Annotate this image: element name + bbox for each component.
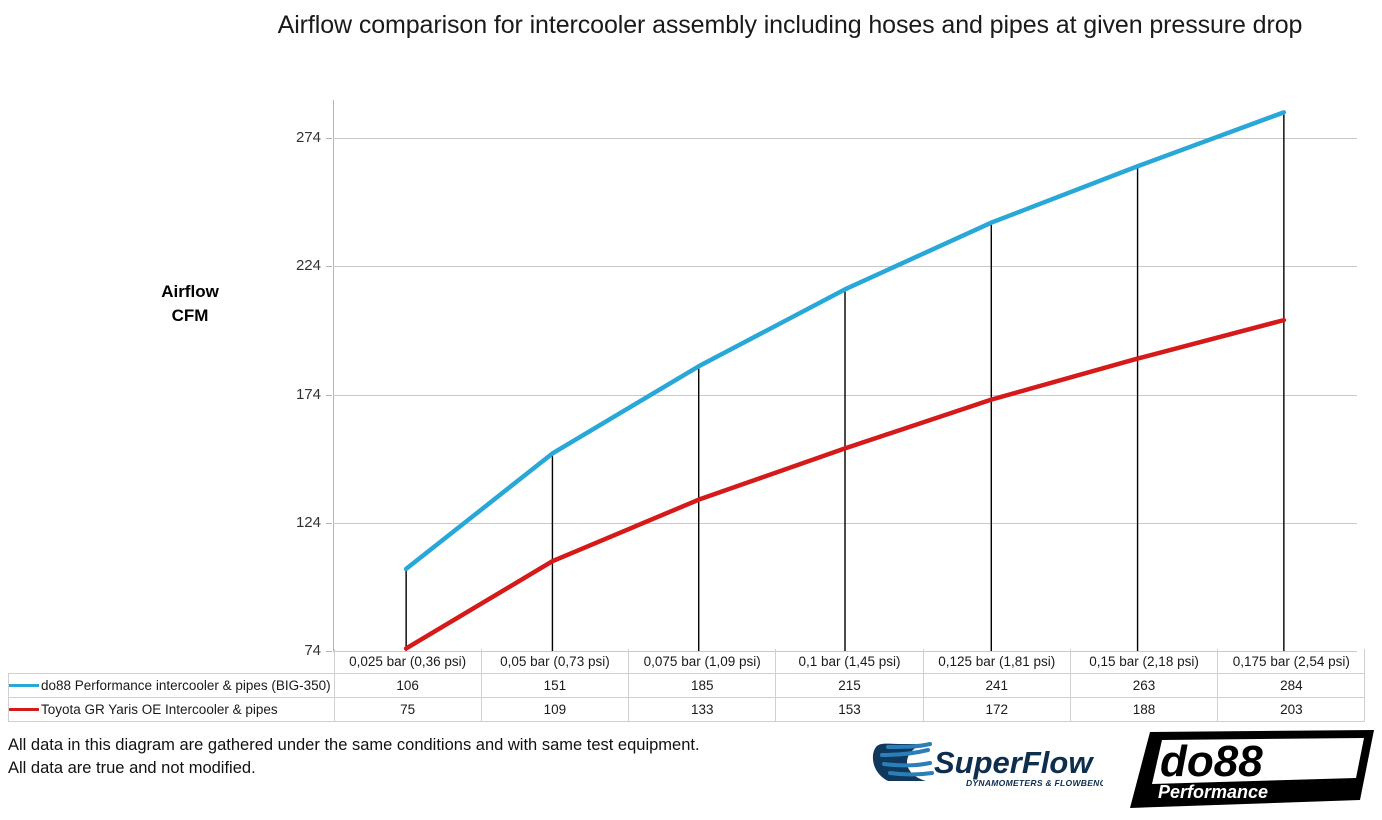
do88-wordmark: do88 [1160,737,1263,786]
series-line [406,112,1284,569]
x-axis-category-label: 0,125 bar (1,81 psi) [923,649,1070,674]
superflow-wordmark: SuperFlow [934,745,1094,780]
superflow-logo: SuperFlow DYNAMOMETERS & FLOWBENCHES [868,733,1103,795]
legend-label: do88 Performance intercooler & pipes (BI… [41,678,331,693]
series-line [406,320,1284,648]
y-tick-mark [326,266,332,267]
y-tick-label: 124 [261,514,321,531]
data-value-cell: 109 [481,698,628,722]
legend-entry: Toyota GR Yaris OE Intercooler & pipes [9,698,335,722]
data-value-cell: 215 [776,674,923,698]
x-axis-category-label: 0,075 bar (1,09 psi) [629,649,776,674]
legend-label: Toyota GR Yaris OE Intercooler & pipes [41,702,278,717]
data-value-cell: 172 [923,698,1070,722]
footer-note: All data in this diagram are gathered un… [8,734,700,780]
data-value-cell: 75 [334,698,481,722]
superflow-swoosh-icon [873,744,932,781]
legend-entry: do88 Performance intercooler & pipes (BI… [9,674,335,698]
series-lines [333,100,1357,651]
table-corner-cell [9,649,335,674]
y-tick-mark [326,138,332,139]
x-axis-category-label: 0,175 bar (2,54 psi) [1218,649,1365,674]
y-tick-label: 174 [261,386,321,403]
footer-note-line1: All data in this diagram are gathered un… [8,734,700,757]
table-row: do88 Performance intercooler & pipes (BI… [9,674,1365,698]
y-tick-mark [326,395,332,396]
legend-color-swatch [9,684,39,687]
superflow-tagline: DYNAMOMETERS & FLOWBENCHES [966,778,1103,788]
footer-note-line2: All data are true and not modified. [8,757,700,780]
table-row: Toyota GR Yaris OE Intercooler & pipes75… [9,698,1365,722]
data-value-cell: 133 [629,698,776,722]
data-value-cell: 151 [481,674,628,698]
do88-tagline: Performance [1158,782,1268,802]
y-axis-title: Airflow CFM [120,280,260,328]
plot-area: 74124174224274 [333,100,1357,651]
y-axis-title-line1: Airflow [120,280,260,304]
y-tick-label: 224 [261,257,321,274]
data-value-cell: 106 [334,674,481,698]
do88-logo: do88 Performance [1128,728,1376,814]
x-axis-category-label: 0,025 bar (0,36 psi) [334,649,481,674]
data-value-cell: 188 [1070,698,1217,722]
data-value-cell: 241 [923,674,1070,698]
data-value-cell: 263 [1070,674,1217,698]
data-value-cell: 185 [629,674,776,698]
data-table: 0,025 bar (0,36 psi)0,05 bar (0,73 psi)0… [8,649,1365,722]
x-axis-category-label: 0,15 bar (2,18 psi) [1070,649,1217,674]
table-header-row: 0,025 bar (0,36 psi)0,05 bar (0,73 psi)0… [9,649,1365,674]
data-value-cell: 284 [1218,674,1365,698]
y-tick-mark [326,523,332,524]
data-value-cell: 153 [776,698,923,722]
y-tick-label: 274 [261,129,321,146]
chart-title: Airflow comparison for intercooler assem… [250,8,1330,42]
y-axis-title-line2: CFM [120,304,260,328]
x-axis-category-label: 0,1 bar (1,45 psi) [776,649,923,674]
legend-color-swatch [9,708,39,711]
x-axis-category-label: 0,05 bar (0,73 psi) [481,649,628,674]
data-value-cell: 203 [1218,698,1365,722]
